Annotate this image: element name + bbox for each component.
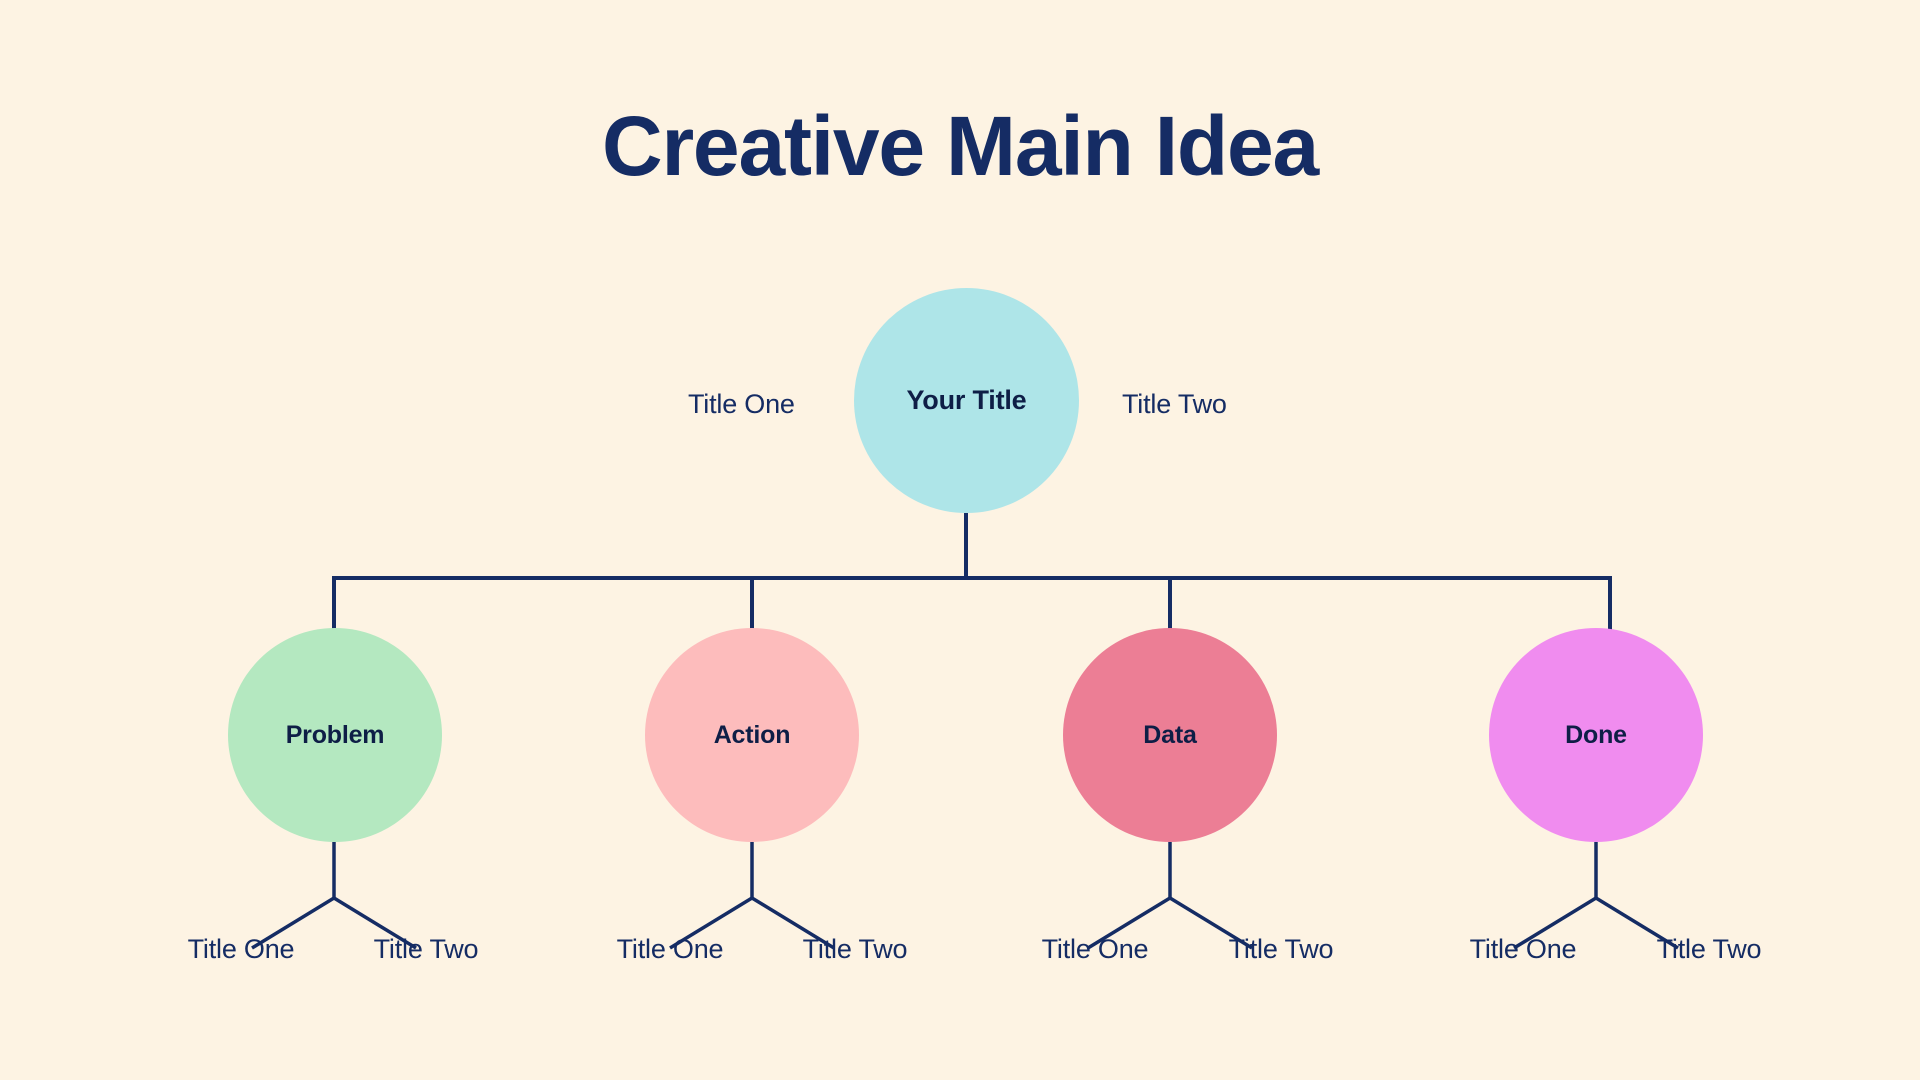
leaf-label-2-one: Title One [617, 934, 724, 965]
leaf-label-1-one: Title One [188, 934, 295, 965]
leaf-label-3-one: Title One [1042, 934, 1149, 965]
leaf-label-3-two: Title Two [1229, 934, 1334, 965]
node-branch-problem[interactable]: Problem [228, 628, 442, 842]
node-root[interactable]: Your Title [854, 288, 1079, 513]
node-branch-data[interactable]: Data [1063, 628, 1277, 842]
root-side-label-right: Title Two [1122, 389, 1227, 420]
node-root-label: Your Title [906, 385, 1026, 416]
node-branch-done[interactable]: Done [1489, 628, 1703, 842]
node-branch-data-label: Data [1143, 721, 1196, 750]
node-branch-action[interactable]: Action [645, 628, 859, 842]
leaf-label-1-two: Title Two [374, 934, 479, 965]
node-branch-action-label: Action [714, 721, 791, 750]
connector-lines [0, 0, 1920, 1080]
leaf-label-4-two: Title Two [1657, 934, 1762, 965]
node-branch-problem-label: Problem [286, 721, 385, 750]
diagram-canvas: Creative Main Idea [0, 0, 1920, 1080]
node-branch-done-label: Done [1565, 721, 1627, 750]
leaf-label-4-one: Title One [1470, 934, 1577, 965]
root-side-label-left: Title One [688, 389, 795, 420]
leaf-label-2-two: Title Two [803, 934, 908, 965]
